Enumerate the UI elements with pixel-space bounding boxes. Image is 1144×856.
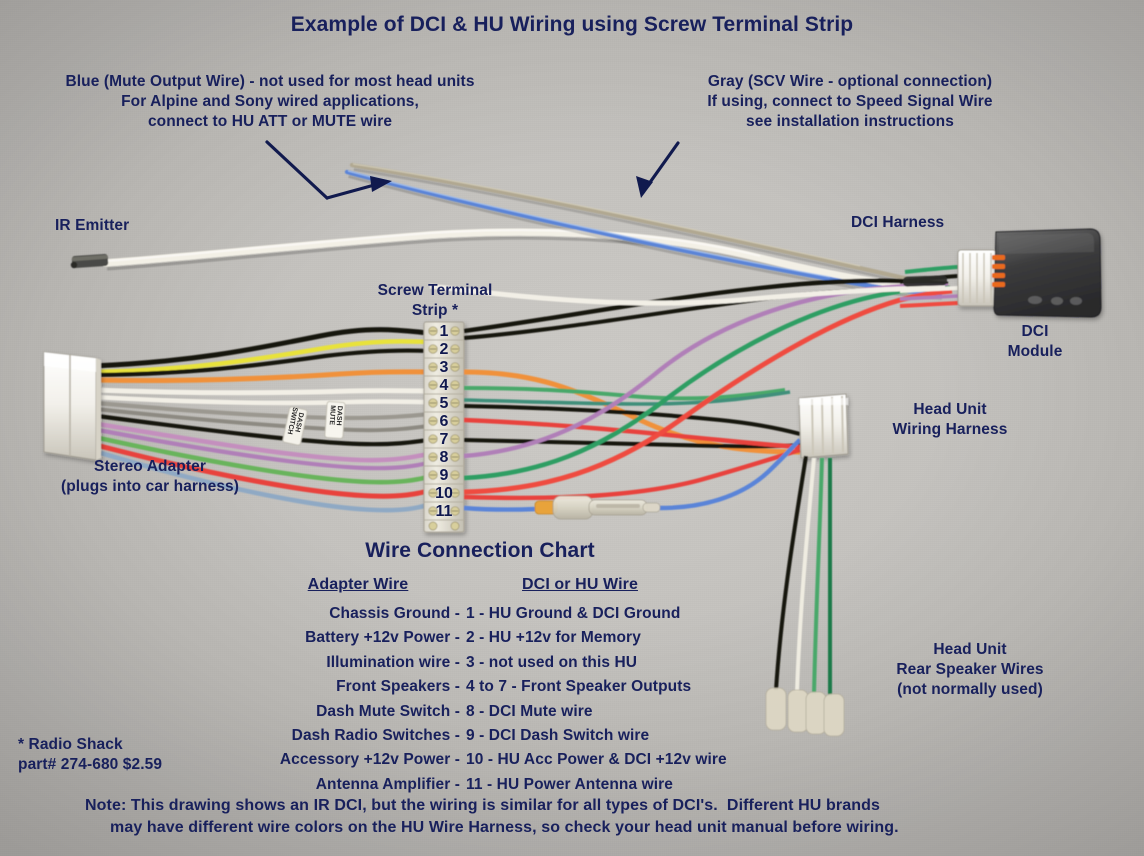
terminal-number-7: 7 (430, 431, 458, 449)
chart-row-adapter: Dash Mute Switch - (220, 702, 460, 722)
chart-row-dci: 4 to 7 - Front Speaker Outputs (466, 677, 886, 697)
dci-module (992, 229, 1101, 317)
chart-row-dci: 10 - HU Acc Power & DCI +12v wire (466, 750, 886, 770)
dci-harness-label: DCI Harness (851, 213, 944, 233)
page-title: Example of DCI & HU Wiring using Screw T… (0, 12, 1144, 39)
terminal-number-9: 9 (430, 467, 458, 485)
chart-row-adapter: Dash Radio Switches - (220, 726, 460, 746)
terminal-number-8: 8 (430, 449, 458, 467)
dci-harness-connector (958, 250, 996, 306)
wiring-diagram-image: Example of DCI & HU Wiring using Screw T… (0, 0, 1144, 856)
chart-row-adapter: Illumination wire - (220, 653, 460, 673)
chart-row-dci: 1 - HU Ground & DCI Ground (466, 604, 886, 624)
chart-col-adapter-wire: Adapter Wire (258, 575, 458, 595)
terminal-number-10: 10 (430, 485, 458, 503)
footer-note-line1: Note: This drawing shows an IR DCI, but … (85, 796, 880, 816)
stereo-adapter-connector (44, 352, 101, 460)
chart-heading: Wire Connection Chart (200, 538, 760, 565)
blue-mute-wire-note: Blue (Mute Output Wire) - not used for m… (10, 72, 530, 131)
chart-row-adapter: Antenna Amplifier - (220, 775, 460, 795)
chart-row-adapter: Front Speakers - (220, 677, 460, 697)
dash-mute-tag-text: DASH MUTE (326, 396, 343, 435)
chart-row-dci: 3 - not used on this HU (466, 653, 886, 673)
radio-shack-part-note: * Radio Shack part# 274-680 $2.59 (18, 735, 162, 775)
terminal-number-2: 2 (430, 341, 458, 359)
terminal-number-6: 6 (430, 413, 458, 431)
ir-emitter-head (71, 254, 109, 268)
head-unit-wiring-harness-label: Head Unit Wiring Harness (855, 400, 1045, 440)
chart-row-dci: 11 - HU Power Antenna wire (466, 775, 886, 795)
screw-terminal-strip-label: Screw Terminal Strip * (360, 281, 510, 321)
dci-module-label: DCI Module (975, 322, 1095, 362)
terminal-number-11: 11 (430, 503, 458, 521)
chart-row-adapter: Accessory +12v Power - (220, 750, 460, 770)
terminal-number-5: 5 (430, 395, 458, 413)
ir-emitter-label: IR Emitter (55, 216, 129, 236)
chart-row-dci: 9 - DCI Dash Switch wire (466, 726, 886, 746)
chart-row-adapter: Chassis Ground - (220, 604, 460, 624)
terminal-number-1: 1 (430, 323, 458, 341)
terminal-number-4: 4 (430, 377, 458, 395)
chart-row-dci: 8 - DCI Mute wire (466, 702, 886, 722)
head-unit-connector (799, 394, 848, 458)
chart-row-adapter: Battery +12v Power - (220, 628, 460, 648)
gray-scv-wire-note: Gray (SCV Wire - optional connection) If… (620, 72, 1080, 131)
chart-col-dci-hu-wire: DCI or HU Wire (470, 575, 690, 595)
terminal-number-3: 3 (430, 359, 458, 377)
footer-note-line2: may have different wire colors on the HU… (110, 818, 899, 838)
rear-speaker-wires-label: Head Unit Rear Speaker Wires (not normal… (855, 640, 1085, 699)
stereo-adapter-label: Stereo Adapter (plugs into car harness) (10, 457, 290, 497)
chart-row-dci: 2 - HU +12v for Memory (466, 628, 886, 648)
